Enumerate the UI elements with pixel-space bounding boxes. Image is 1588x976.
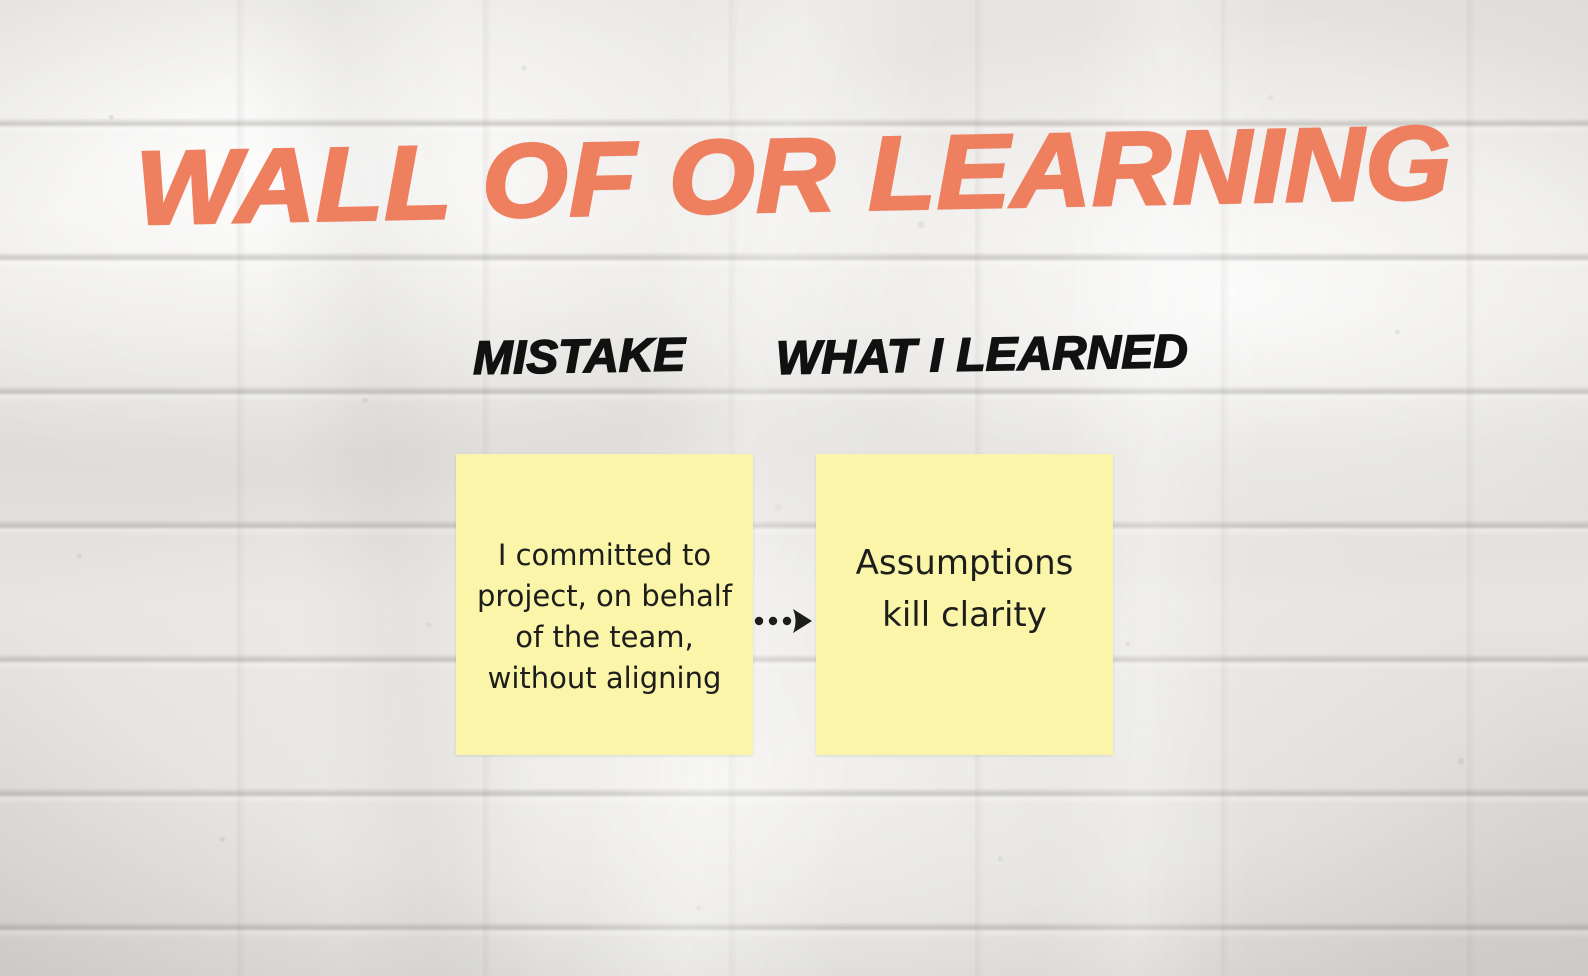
sticky-note-mistake[interactable]: I committed to project, on behalf of the… xyxy=(456,454,753,755)
sticky-note-mistake-text: I committed to project, on behalf of the… xyxy=(470,535,739,699)
dotted-arrow-right-icon xyxy=(752,600,814,642)
slide-canvas: WALL OF OR LEARNING MISTAKE WHAT I LEARN… xyxy=(0,0,1588,976)
column-header-what-i-learned: WHAT I LEARNED xyxy=(776,327,1189,381)
sticky-note-learned[interactable]: Assumptions kill clarity xyxy=(816,454,1113,755)
column-header-mistake: MISTAKE xyxy=(473,330,686,381)
sticky-note-learned-text: Assumptions kill clarity xyxy=(830,537,1099,641)
